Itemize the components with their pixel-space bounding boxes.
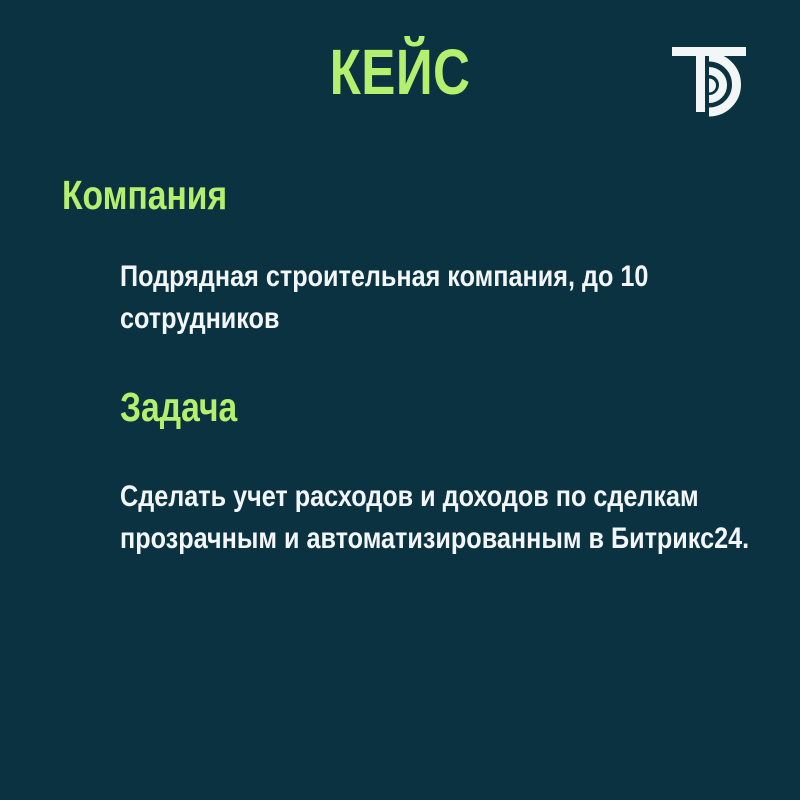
section-body-task: Сделать учет расходов и доходов по сделк… xyxy=(120,476,800,560)
section-heading-company: Компания xyxy=(62,170,667,220)
slide-content: Компания Подрядная строительная компания… xyxy=(0,160,800,560)
case-slide: КЕЙС Компания Подрядная строи xyxy=(0,0,800,800)
section-body-company: Подрядная строительная компания, до 10 с… xyxy=(120,256,800,340)
td-monogram-logo xyxy=(668,40,752,118)
slide-header: КЕЙС xyxy=(0,0,800,140)
page-title: КЕЙС xyxy=(80,36,720,108)
section-heading-task: Задача xyxy=(120,382,678,432)
